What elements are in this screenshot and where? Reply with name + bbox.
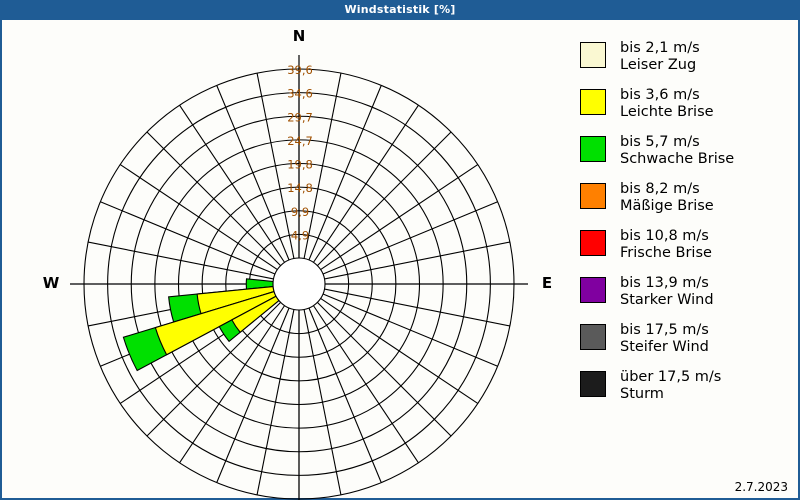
legend-color-swatch xyxy=(580,89,606,115)
legend-label: bis 8,2 m/sMäßige Brise xyxy=(620,181,714,215)
window-title: Windstatistik [%] xyxy=(344,3,455,16)
legend-label-speed: bis 5,7 m/s xyxy=(620,134,700,150)
legend-label: über 17,5 m/sSturm xyxy=(620,369,721,403)
legend-label-speed: über 17,5 m/s xyxy=(620,369,721,385)
radial-tick-label: 39,6 xyxy=(287,63,313,77)
legend-item: bis 17,5 m/sSteifer Wind xyxy=(580,322,795,369)
windrose-center-hub xyxy=(273,258,325,310)
legend-label-name: Steifer Wind xyxy=(620,339,709,356)
radial-tick-label: 9,9 xyxy=(291,205,309,219)
windrose-petals xyxy=(123,279,279,371)
legend-label-speed: bis 3,6 m/s xyxy=(620,87,700,103)
legend-item: über 17,5 m/sSturm xyxy=(580,369,795,416)
radial-tick-label: 34,6 xyxy=(287,87,313,101)
legend-label-speed: bis 8,2 m/s xyxy=(620,181,700,197)
legend-label: bis 3,6 m/sLeichte Brise xyxy=(620,87,714,121)
legend-label-name: Leichte Brise xyxy=(620,104,714,121)
legend-label-name: Frische Brise xyxy=(620,245,712,262)
calm-center-circle xyxy=(273,258,325,310)
legend-label-speed: bis 10,8 m/s xyxy=(620,228,709,244)
legend-item: bis 13,9 m/sStarker Wind xyxy=(580,275,795,322)
legend-label: bis 13,9 m/sStarker Wind xyxy=(620,275,714,309)
legend-item: bis 2,1 m/sLeiser Zug xyxy=(580,40,795,87)
radial-tick-label: 14,8 xyxy=(287,181,313,195)
legend-label-speed: bis 17,5 m/s xyxy=(620,322,709,338)
legend-color-swatch xyxy=(580,371,606,397)
radial-axis-tick-labels: 4,99,914,819,824,729,734,639,6 xyxy=(287,63,313,242)
legend-label-name: Sturm xyxy=(620,386,721,403)
legend-color-swatch xyxy=(580,324,606,350)
legend-label: bis 2,1 m/sLeiser Zug xyxy=(620,40,700,74)
legend-item: bis 5,7 m/sSchwache Brise xyxy=(580,134,795,181)
window-title-bar: Windstatistik [%] xyxy=(0,0,800,20)
legend-label-speed: bis 13,9 m/s xyxy=(620,275,709,291)
radial-tick-label: 4,9 xyxy=(291,228,309,242)
compass-label-west: W xyxy=(21,274,81,292)
date-stamp: 2.7.2023 xyxy=(735,480,788,494)
legend-item: bis 8,2 m/sMäßige Brise xyxy=(580,181,795,228)
radial-tick-label: 19,8 xyxy=(287,158,313,172)
legend-color-swatch xyxy=(580,136,606,162)
window-body: 4,99,914,819,824,729,734,639,6 N E S W b… xyxy=(0,20,800,500)
legend-color-swatch xyxy=(580,230,606,256)
legend-label: bis 5,7 m/sSchwache Brise xyxy=(620,134,734,168)
legend-label: bis 17,5 m/sSteifer Wind xyxy=(620,322,709,356)
legend-color-swatch xyxy=(580,42,606,68)
legend-label: bis 10,8 m/sFrische Brise xyxy=(620,228,712,262)
legend-item: bis 3,6 m/sLeichte Brise xyxy=(580,87,795,134)
compass-label-north: N xyxy=(269,27,329,45)
legend: bis 2,1 m/sLeiser Zugbis 3,6 m/sLeichte … xyxy=(580,40,795,460)
legend-label-name: Leiser Zug xyxy=(620,57,700,74)
legend-color-swatch xyxy=(580,277,606,303)
legend-label-name: Starker Wind xyxy=(620,292,714,309)
legend-label-name: Mäßige Brise xyxy=(620,198,714,215)
legend-label-name: Schwache Brise xyxy=(620,151,734,168)
radial-tick-label: 29,7 xyxy=(287,110,313,124)
compass-label-east: E xyxy=(517,274,577,292)
windrose-svg: 4,99,914,819,824,729,734,639,6 xyxy=(2,20,562,500)
windrose-window: Windstatistik [%] 4,99,914,819,824,729,7… xyxy=(0,0,800,500)
legend-color-swatch xyxy=(580,183,606,209)
legend-label-speed: bis 2,1 m/s xyxy=(620,40,700,56)
windrose-chart: 4,99,914,819,824,729,734,639,6 N E S W xyxy=(2,20,562,500)
radial-tick-label: 24,7 xyxy=(287,134,313,148)
legend-item: bis 10,8 m/sFrische Brise xyxy=(580,228,795,275)
